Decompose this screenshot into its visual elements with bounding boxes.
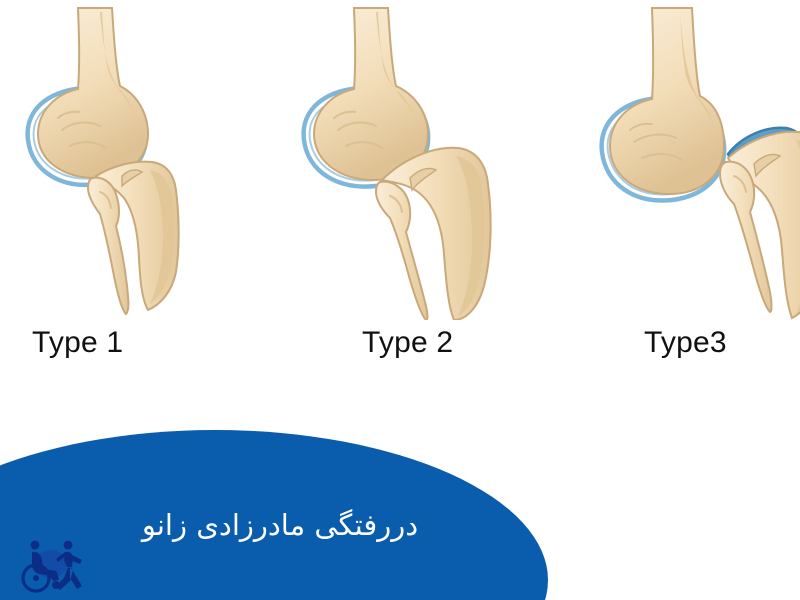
knee-figure-type-3 <box>602 8 800 318</box>
illustration-page: Type 1 Type 2 Type3 دررفتگی مادرزادی زان… <box>0 0 800 600</box>
wheelchair-and-runner-logo <box>12 536 90 594</box>
knee-illustration-group <box>0 0 800 320</box>
knee-figure-type-2 <box>304 8 491 320</box>
runner-head-icon <box>64 541 73 550</box>
fibula-type-2 <box>376 182 428 320</box>
label-type-1: Type 1 <box>32 326 123 360</box>
femur-type-3 <box>610 8 724 194</box>
wheelchair-hub-icon <box>33 575 39 581</box>
label-type-2: Type 2 <box>362 326 453 360</box>
label-type-3: Type3 <box>644 326 727 360</box>
knee-figure-type-1 <box>28 8 179 314</box>
wheelchair-user-head-icon <box>31 541 40 550</box>
